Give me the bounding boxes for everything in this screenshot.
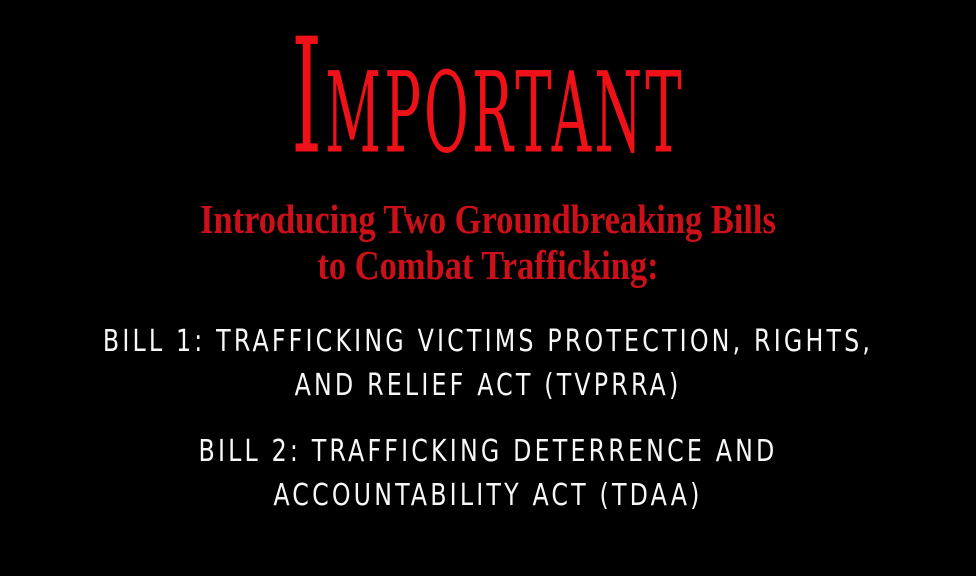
- bill-2-line-1: Bill 2: Trafficking Deterrence and: [59, 430, 918, 474]
- subtitle: Introducing Two Groundbreaking Bills to …: [0, 196, 976, 288]
- bill-2-line-2: Accountability Act (TDAA): [59, 474, 918, 518]
- subtitle-line-2: to Combat Trafficking:: [78, 242, 898, 288]
- subtitle-line-1: Introducing Two Groundbreaking Bills: [78, 196, 898, 242]
- bill-item-1: Bill 1: Trafficking Victims Protection, …: [0, 320, 976, 408]
- bill-1-line-2: and Relief Act (TVPRRA): [59, 364, 918, 408]
- bill-1-line-1: Bill 1: Trafficking Victims Protection, …: [59, 320, 918, 364]
- page-title: Important: [234, 18, 742, 177]
- slide-canvas: Important Introducing Two Groundbreaking…: [0, 0, 976, 576]
- bill-list: Bill 1: Trafficking Victims Protection, …: [0, 320, 976, 518]
- bill-item-2: Bill 2: Trafficking Deterrence and Accou…: [0, 430, 976, 518]
